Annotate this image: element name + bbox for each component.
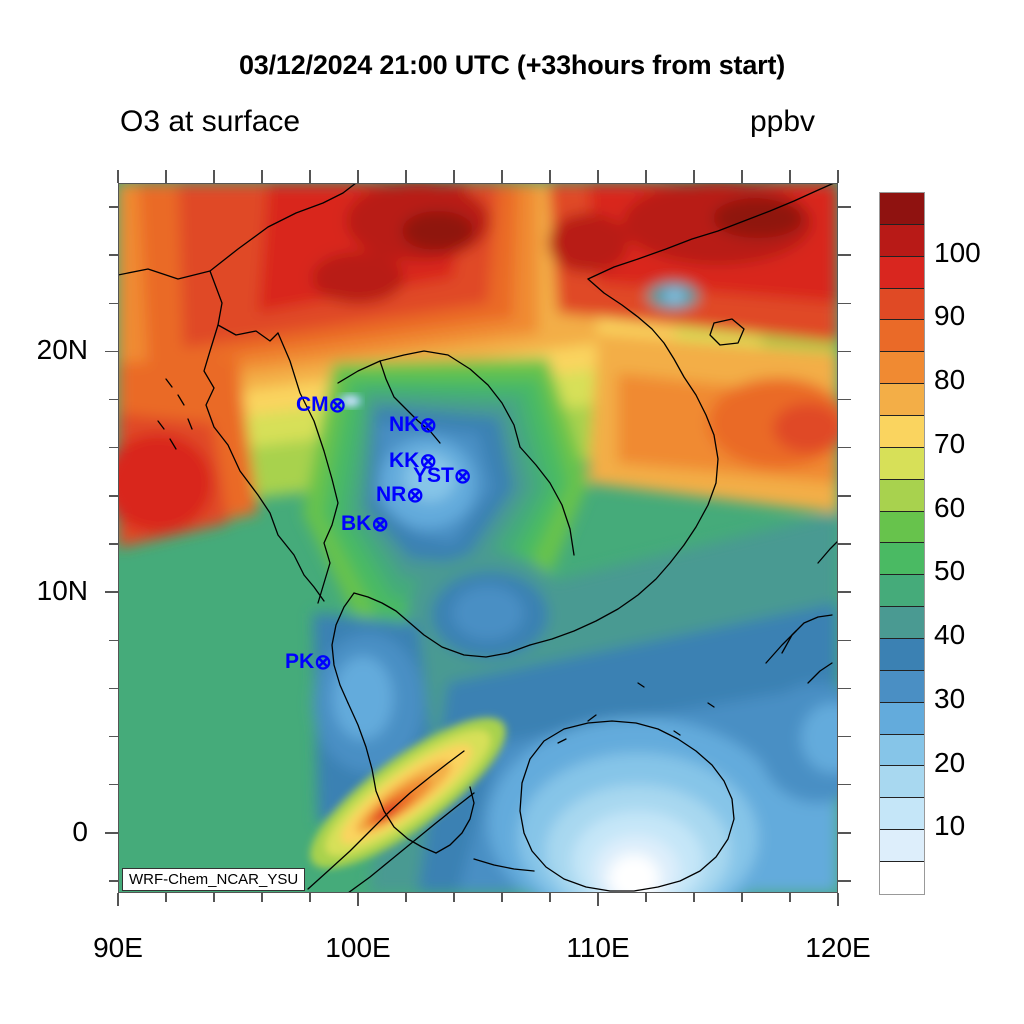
axis-tick bbox=[105, 351, 118, 353]
axis-tick bbox=[693, 893, 695, 902]
map-plot-area bbox=[118, 183, 838, 893]
axis-tick bbox=[453, 893, 455, 902]
colorbar-band bbox=[880, 289, 924, 321]
x-axis-label: 110E bbox=[528, 932, 668, 964]
colorbar-tick-label: 10 bbox=[934, 812, 965, 840]
axis-tick bbox=[645, 170, 647, 183]
colorbar-band bbox=[880, 543, 924, 575]
axis-tick bbox=[789, 893, 791, 902]
axis-tick bbox=[838, 303, 851, 305]
colorbar-band bbox=[880, 639, 924, 671]
station-label-bk: BK bbox=[341, 512, 371, 535]
axis-tick bbox=[109, 206, 118, 208]
axis-tick bbox=[213, 170, 215, 183]
axis-tick bbox=[109, 736, 118, 738]
colorbar-tick-label: 30 bbox=[934, 685, 965, 713]
axis-tick bbox=[838, 351, 851, 353]
axis-tick bbox=[309, 893, 311, 902]
page-title: 03/12/2024 21:00 UTC (+33hours from star… bbox=[0, 50, 1024, 81]
axis-tick bbox=[165, 170, 167, 183]
axis-tick bbox=[109, 254, 118, 256]
axis-tick bbox=[309, 170, 311, 183]
colorbar-tick-label: 60 bbox=[934, 494, 965, 522]
axis-tick bbox=[838, 495, 851, 497]
colorbar-band bbox=[880, 416, 924, 448]
axis-tick bbox=[357, 170, 359, 183]
axis-tick bbox=[693, 170, 695, 183]
axis-tick bbox=[117, 893, 119, 906]
colorbar-band bbox=[880, 575, 924, 607]
circled-x-icon: ⊗ bbox=[314, 652, 332, 673]
axis-tick bbox=[838, 399, 851, 401]
station-marker-cm[interactable]: CM⊗ bbox=[296, 394, 346, 416]
y-axis-label: 10N bbox=[0, 575, 88, 607]
axis-tick bbox=[213, 893, 215, 902]
axis-tick bbox=[741, 893, 743, 902]
axis-tick bbox=[109, 543, 118, 545]
axis-tick bbox=[838, 591, 851, 593]
colorbar-tick-label: 100 bbox=[934, 239, 981, 267]
subtitle-variable: O3 at surface bbox=[120, 105, 300, 139]
axis-tick bbox=[109, 688, 118, 690]
colorbar-band bbox=[880, 257, 924, 289]
colorbar-tick-label: 90 bbox=[934, 302, 965, 330]
colorbar-band bbox=[880, 703, 924, 735]
x-axis-label: 120E bbox=[768, 932, 908, 964]
axis-tick bbox=[741, 170, 743, 183]
axis-tick bbox=[837, 893, 839, 906]
axis-tick bbox=[109, 784, 118, 786]
colorbar-band bbox=[880, 480, 924, 512]
axis-tick bbox=[838, 447, 851, 449]
station-label-nk: NK bbox=[389, 413, 419, 436]
station-label-pk: PK bbox=[285, 650, 314, 673]
axis-tick bbox=[501, 170, 503, 183]
axis-tick bbox=[109, 303, 118, 305]
axis-tick bbox=[109, 447, 118, 449]
x-axis-label: 90E bbox=[48, 932, 188, 964]
axis-tick bbox=[645, 893, 647, 902]
colorbar-tick-label: 70 bbox=[934, 430, 965, 458]
axis-tick bbox=[549, 170, 551, 183]
axis-tick bbox=[837, 170, 839, 183]
circled-x-icon: ⊗ bbox=[371, 514, 389, 535]
colorbar-band bbox=[880, 735, 924, 767]
axis-tick bbox=[838, 784, 851, 786]
colorbar-band bbox=[880, 766, 924, 798]
axis-tick bbox=[405, 170, 407, 183]
colorbar-band bbox=[880, 607, 924, 639]
colorbar-band bbox=[880, 830, 924, 862]
colorbar-band bbox=[880, 384, 924, 416]
station-marker-bk[interactable]: BK⊗ bbox=[341, 513, 389, 535]
axis-tick bbox=[109, 399, 118, 401]
axis-tick bbox=[109, 495, 118, 497]
y-axis-label: 20N bbox=[0, 334, 88, 366]
model-watermark: WRF-Chem_NCAR_YSU bbox=[122, 868, 305, 891]
axis-tick bbox=[501, 893, 503, 902]
axis-tick bbox=[597, 893, 599, 906]
station-label-cm: CM bbox=[296, 393, 329, 416]
axis-tick bbox=[838, 688, 851, 690]
colorbar-band bbox=[880, 512, 924, 544]
station-marker-nr[interactable]: NR⊗ bbox=[376, 484, 424, 506]
colorbar-band bbox=[880, 798, 924, 830]
colorbar-tick-label: 80 bbox=[934, 366, 965, 394]
units-label: ppbv bbox=[750, 105, 815, 139]
axis-tick bbox=[838, 543, 851, 545]
station-marker-nk[interactable]: NK⊗ bbox=[389, 414, 437, 436]
axis-tick bbox=[838, 254, 851, 256]
axis-tick bbox=[117, 170, 119, 183]
colorbar[interactable] bbox=[879, 192, 925, 895]
axis-tick bbox=[109, 880, 118, 882]
axis-tick bbox=[838, 640, 851, 642]
x-axis-label: 100E bbox=[288, 932, 428, 964]
axis-tick bbox=[165, 893, 167, 902]
y-axis-label: 0 bbox=[0, 816, 88, 848]
circled-x-icon: ⊗ bbox=[329, 395, 347, 416]
axis-tick bbox=[105, 591, 118, 593]
colorbar-band bbox=[880, 320, 924, 352]
axis-tick bbox=[838, 736, 851, 738]
axis-tick bbox=[357, 893, 359, 906]
axis-tick bbox=[261, 893, 263, 902]
axis-tick bbox=[261, 170, 263, 183]
circled-x-icon: ⊗ bbox=[406, 485, 424, 506]
ozone-contour-field bbox=[118, 183, 838, 893]
axis-tick bbox=[549, 893, 551, 902]
axis-tick bbox=[838, 880, 851, 882]
colorbar-band bbox=[880, 862, 924, 894]
circled-x-icon: ⊗ bbox=[419, 415, 437, 436]
colorbar-band bbox=[880, 225, 924, 257]
axis-tick bbox=[597, 170, 599, 183]
axis-tick bbox=[789, 170, 791, 183]
station-marker-pk[interactable]: PK⊗ bbox=[285, 651, 332, 673]
colorbar-band bbox=[880, 193, 924, 225]
circled-x-icon: ⊗ bbox=[454, 466, 472, 487]
colorbar-band bbox=[880, 352, 924, 384]
axis-tick bbox=[838, 832, 851, 834]
axis-tick bbox=[105, 832, 118, 834]
colorbar-tick-label: 40 bbox=[934, 621, 965, 649]
axis-tick bbox=[453, 170, 455, 183]
axis-tick bbox=[405, 893, 407, 902]
colorbar-band bbox=[880, 671, 924, 703]
colorbar-tick-label: 50 bbox=[934, 557, 965, 585]
colorbar-tick-label: 20 bbox=[934, 749, 965, 777]
colorbar-band bbox=[880, 448, 924, 480]
axis-tick bbox=[109, 640, 118, 642]
station-label-nr: NR bbox=[376, 483, 406, 506]
axis-tick bbox=[838, 206, 851, 208]
